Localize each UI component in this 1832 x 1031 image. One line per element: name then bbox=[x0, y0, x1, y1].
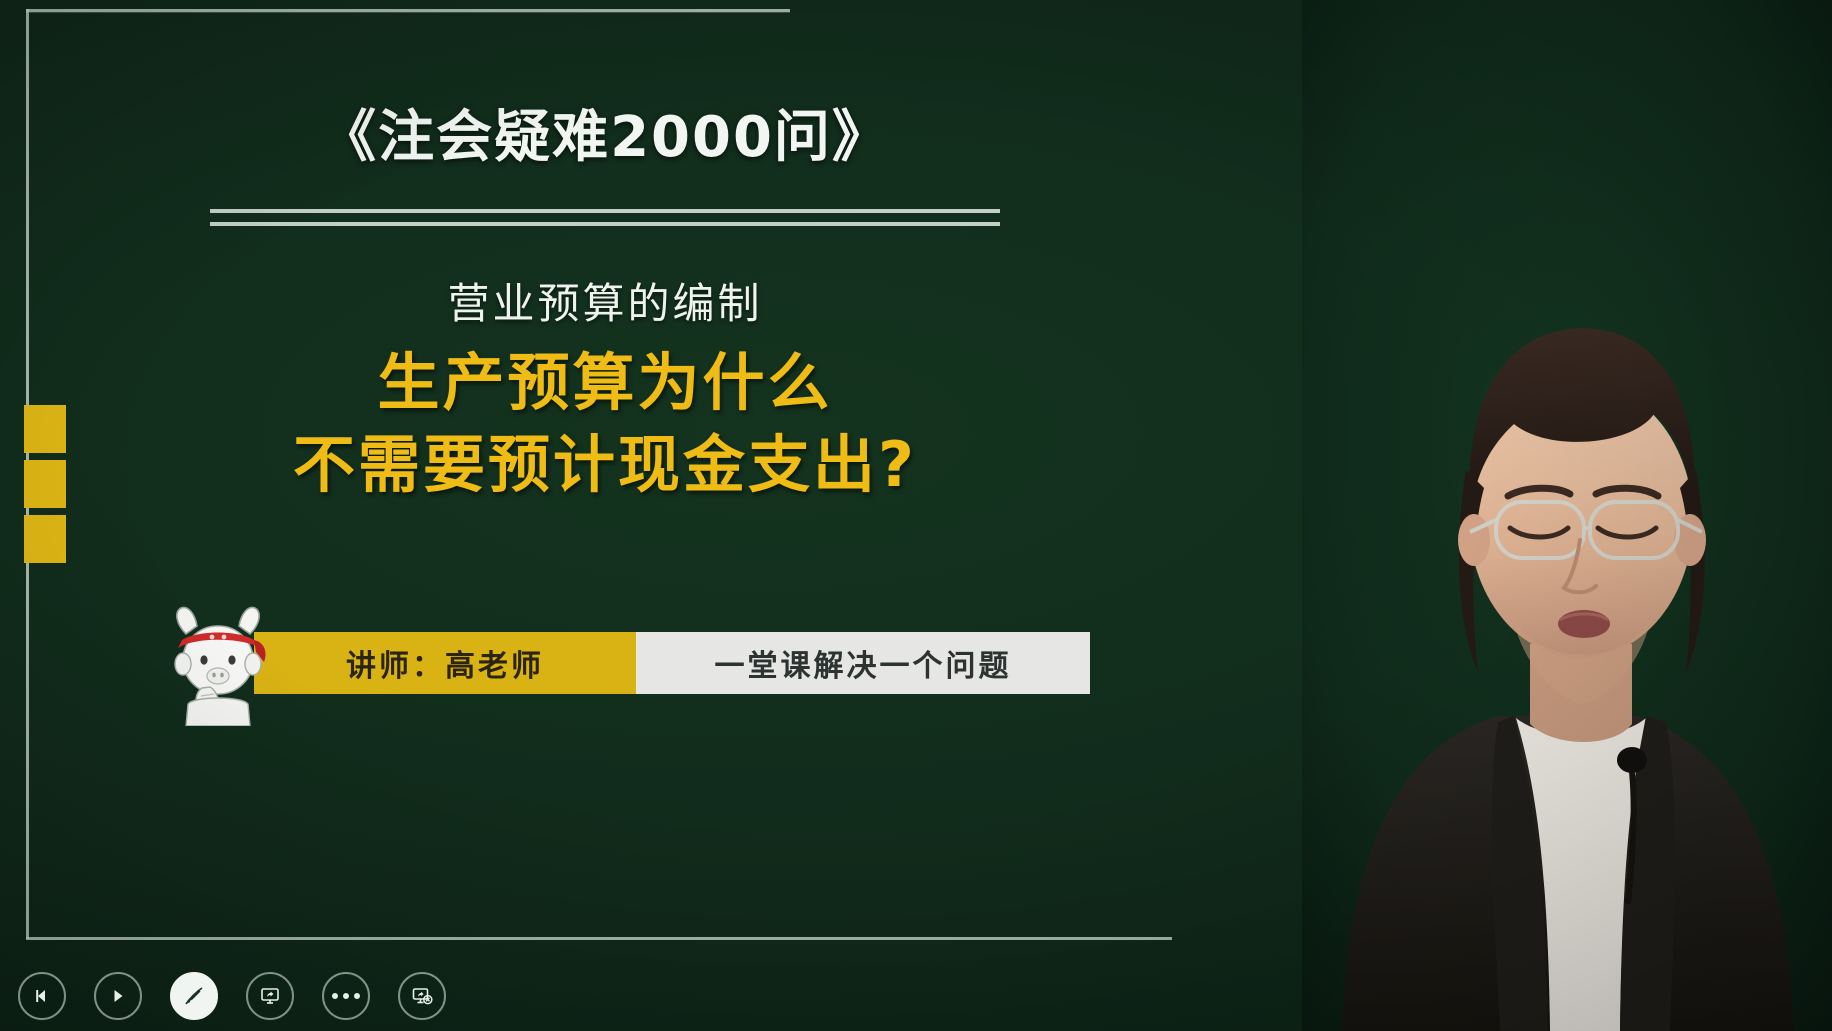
headline-line-1: 生产预算为什么 bbox=[377, 345, 832, 421]
more-options-button[interactable] bbox=[322, 972, 370, 1020]
tagline-chip: 一堂课解决一个问题 bbox=[636, 632, 1090, 694]
previous-slide-button[interactable] bbox=[18, 972, 66, 1020]
monitor-icon bbox=[259, 985, 281, 1007]
play-icon bbox=[109, 987, 127, 1005]
divider-rule-top bbox=[210, 209, 1000, 213]
presentation-toolbar bbox=[18, 967, 446, 1025]
frame-top-line bbox=[26, 9, 790, 12]
instructor-figure bbox=[1302, 0, 1832, 1031]
monitor-off-icon bbox=[411, 985, 433, 1007]
slide-stage: 《注会疑难2000问》 营业预算的编制 生产预算为什么 不需要预计现金支出? 讲… bbox=[0, 0, 1832, 1031]
presenter-bar: 讲师：高老师 一堂课解决一个问题 bbox=[254, 632, 1090, 694]
more-dots-icon bbox=[332, 993, 360, 999]
ox-mascot-icon bbox=[168, 604, 268, 726]
yellow-square-1 bbox=[24, 405, 66, 453]
slide-content: 《注会疑难2000问》 营业预算的编制 生产预算为什么 不需要预计现金支出? bbox=[140, 92, 1070, 502]
pen-icon bbox=[183, 985, 205, 1007]
headline-line-2: 不需要预计现金支出? bbox=[293, 427, 917, 503]
presenter-chip: 讲师：高老师 bbox=[254, 632, 636, 694]
title-divider bbox=[210, 209, 1000, 226]
yellow-square-3 bbox=[24, 515, 66, 563]
annotate-button[interactable] bbox=[170, 972, 218, 1020]
section-label: 营业预算的编制 bbox=[447, 270, 762, 331]
frame-bottom-line bbox=[26, 937, 1172, 940]
previous-icon bbox=[33, 987, 51, 1005]
next-slide-button[interactable] bbox=[94, 972, 142, 1020]
divider-rule-bottom bbox=[210, 222, 1000, 226]
presenter-label: 讲师：高老师 bbox=[346, 641, 544, 685]
tagline-label: 一堂课解决一个问题 bbox=[715, 641, 1012, 685]
series-title: 《注会疑难2000问》 bbox=[320, 92, 890, 173]
instructor-webcam bbox=[1302, 0, 1832, 1031]
stop-share-button[interactable] bbox=[398, 972, 446, 1020]
left-yellow-squares bbox=[24, 405, 66, 563]
share-screen-button[interactable] bbox=[246, 972, 294, 1020]
yellow-square-2 bbox=[24, 460, 66, 508]
